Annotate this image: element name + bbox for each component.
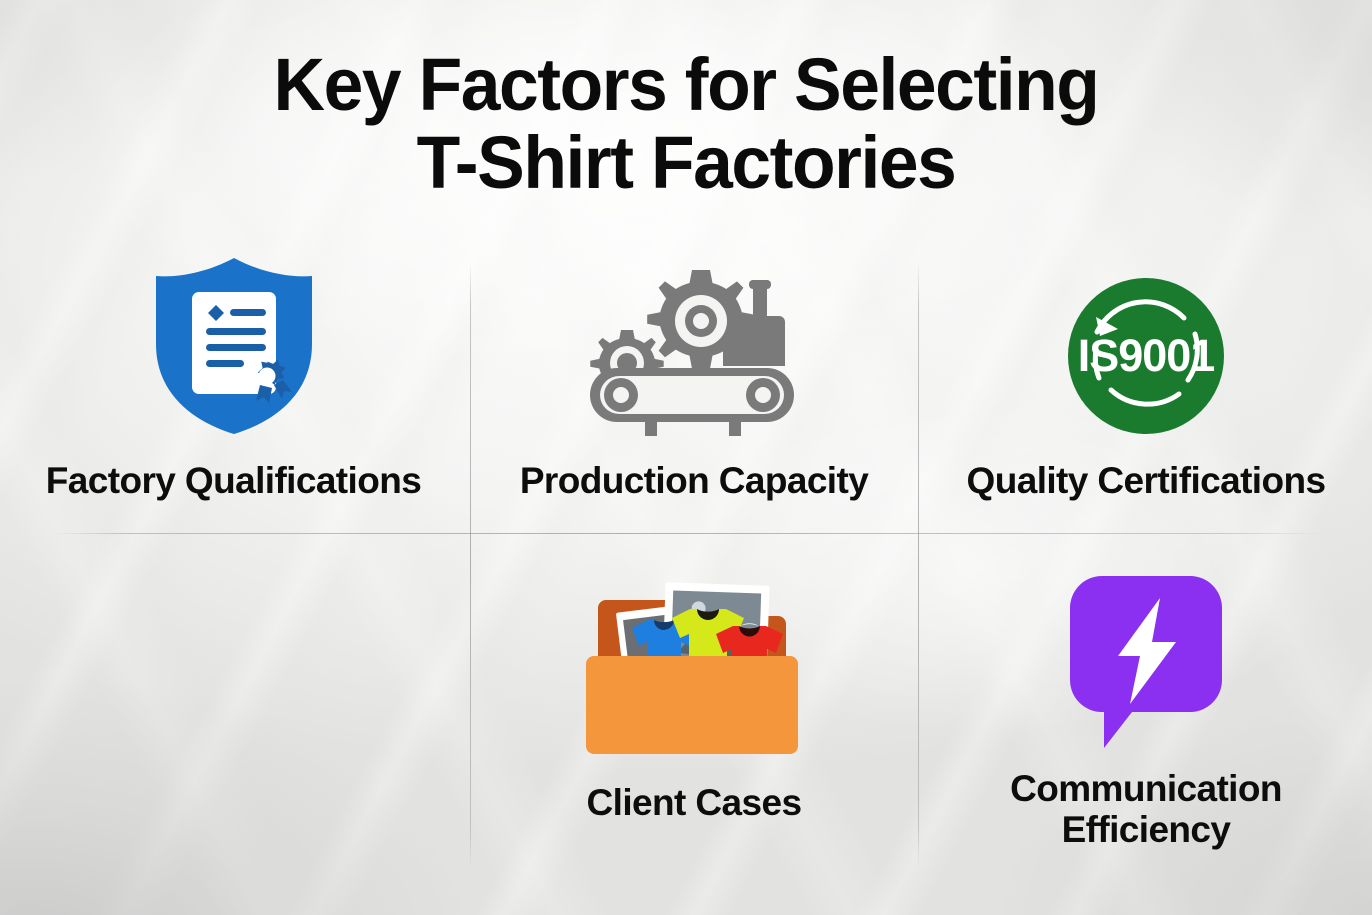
page-title: Key Factors for Selecting T-Shirt Factor… <box>0 46 1372 202</box>
factor-card-factory-qualifications[interactable]: Factory Qualifications <box>0 256 467 501</box>
infographic-canvas: Key Factors for Selecting T-Shirt Factor… <box>0 0 1372 915</box>
factor-label-quality-certifications: Quality Certifications <box>967 460 1326 501</box>
iso9001-badge-text: IS9001 <box>1078 330 1215 381</box>
column-divider-left <box>470 262 471 868</box>
factor-card-production-capacity[interactable]: Production Capacity <box>472 256 916 501</box>
page-title-line-1: Key Factors for Selecting <box>24 46 1348 124</box>
factor-label-client-cases: Client Cases <box>587 782 802 823</box>
icon-wrapper-quality-certifications: IS9001 <box>1066 256 1226 436</box>
row-divider <box>52 533 1324 534</box>
speech-bubble-lightning-icon <box>1068 574 1224 750</box>
factor-card-communication-efficiency[interactable]: Communication Efficiency <box>920 560 1372 850</box>
factor-label-production-capacity: Production Capacity <box>520 460 868 501</box>
shield-certificate-icon <box>148 256 320 436</box>
factor-label-line-1: Communication <box>1010 768 1282 809</box>
factor-label-communication-efficiency: Communication Efficiency <box>1010 768 1282 850</box>
factor-card-client-cases[interactable]: Client Cases <box>472 560 916 823</box>
factor-label-factory-qualifications: Factory Qualifications <box>46 460 421 501</box>
page-title-line-2: T-Shirt Factories <box>24 124 1348 202</box>
factor-label-line-2: Efficiency <box>1062 809 1231 850</box>
icon-wrapper-communication-efficiency <box>1068 560 1224 750</box>
column-divider-right <box>918 262 919 868</box>
iso9001-badge-icon: IS9001 <box>1066 276 1226 436</box>
gears-conveyor-icon <box>589 264 799 436</box>
icon-wrapper-client-cases <box>586 560 802 760</box>
icon-wrapper-factory-qualifications <box>148 256 320 436</box>
factor-card-quality-certifications[interactable]: IS9001 Quality Certifications <box>920 256 1372 501</box>
icon-wrapper-production-capacity <box>589 256 799 436</box>
folder-photos-tshirts-icon <box>586 564 802 760</box>
